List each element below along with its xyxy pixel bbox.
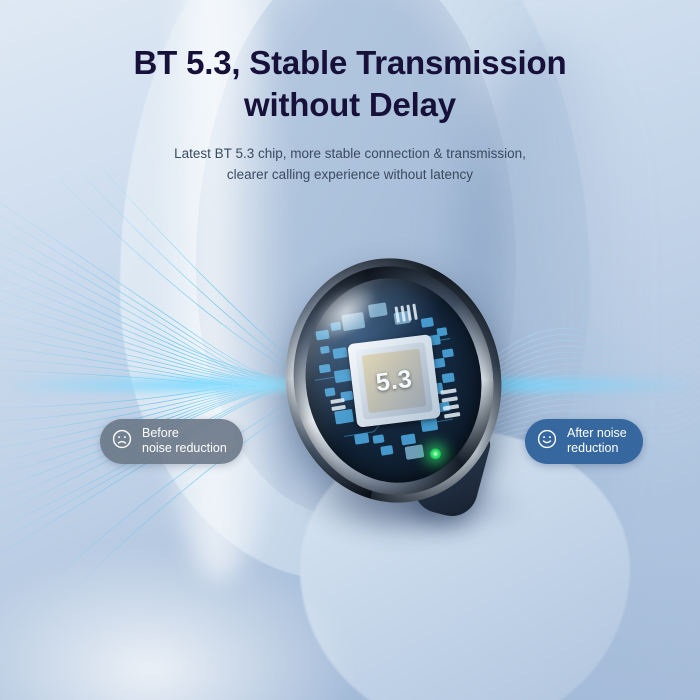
bluetooth-chip: 5.3 xyxy=(347,334,441,428)
badge-before-label: Before noise reduction xyxy=(142,426,227,457)
page-title: BT 5.3, Stable Transmission without Dela… xyxy=(0,42,700,125)
badge-before-noise-reduction: Before noise reduction xyxy=(100,419,243,464)
sad-face-icon xyxy=(111,428,133,455)
subtitle-line-2: clearer calling experience without laten… xyxy=(0,165,700,186)
headline-line-1: BT 5.3, Stable Transmission xyxy=(0,42,700,84)
headline-line-2: without Delay xyxy=(0,84,700,126)
smiley-face-icon xyxy=(536,428,558,455)
badge-after-noise-reduction: After noise reduction xyxy=(525,419,643,464)
chip-version-label: 5.3 xyxy=(374,364,414,397)
badge-after-label: After noise reduction xyxy=(567,426,627,457)
product-feature-banner: 5.3 BT 5.3, Stable Transmission without … xyxy=(0,0,700,700)
subtitle-line-1: Latest BT 5.3 chip, more stable connecti… xyxy=(0,144,700,165)
page-subtitle: Latest BT 5.3 chip, more stable connecti… xyxy=(0,144,700,185)
earbud-circuit-face: 5.3 xyxy=(291,266,496,496)
earbud-product: 5.3 xyxy=(268,243,519,519)
